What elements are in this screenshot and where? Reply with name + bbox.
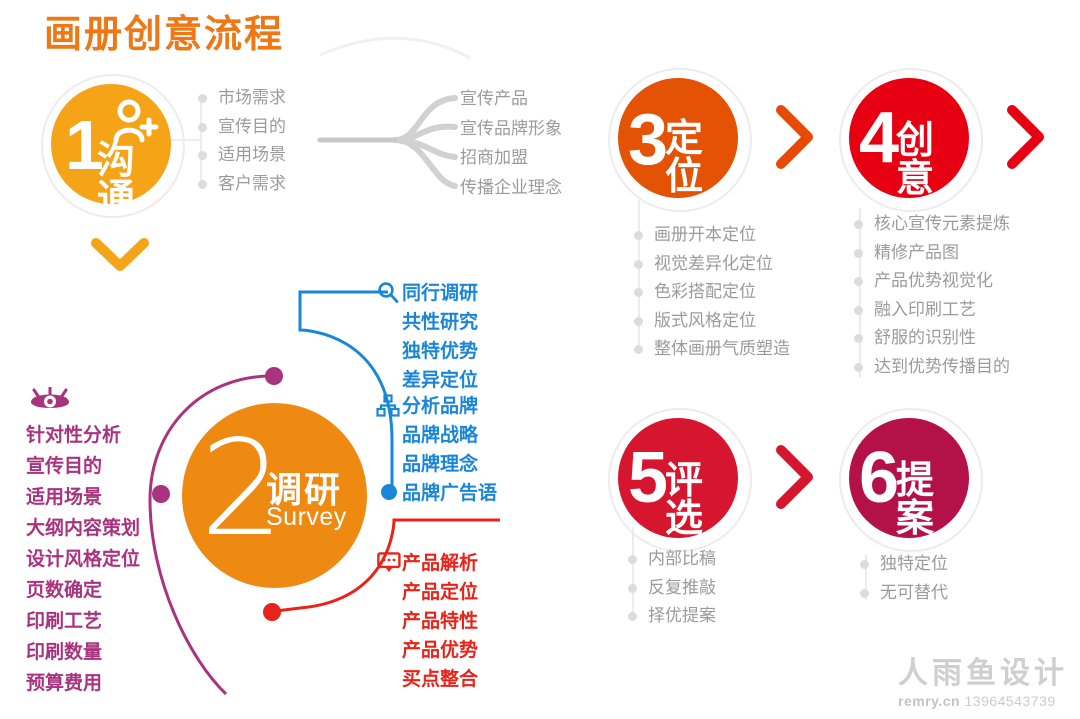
list-item: 印刷数量 — [26, 637, 140, 668]
list-item: 舒服的识别性 — [852, 324, 1010, 353]
list-item: 宣传产品 — [460, 84, 562, 114]
list-item: 分析品牌 — [402, 392, 497, 421]
step-2-blue-list-1: 同行调研 共性研究 独特优势 差异定位 — [402, 279, 478, 395]
watermark-contact: remry.cn 13964543739 — [898, 693, 1068, 709]
list-item: 共性研究 — [402, 308, 478, 337]
step-3-label: 定位 — [665, 120, 738, 196]
comment-icon — [377, 552, 401, 574]
list-item: 产品解析 — [402, 549, 478, 578]
step-5-circle[interactable]: 5 评选 — [618, 418, 738, 538]
step-1-circle[interactable]: 1 沟通 — [51, 84, 171, 204]
list-item: 差异定位 — [402, 366, 478, 395]
step-2-circle[interactable]: 2 调研 Survey — [182, 403, 367, 588]
list-item: 大纲内容策划 — [26, 513, 140, 544]
list-item: 色彩搭配定位 — [632, 278, 790, 307]
list-item: 针对性分析 — [26, 420, 140, 451]
step-2-label-en: Survey — [266, 503, 347, 532]
list-item: 独特优势 — [402, 337, 478, 366]
list-item: 设计风格定位 — [26, 544, 140, 575]
list-item: 品牌广告语 — [402, 479, 497, 508]
list-item: 品牌战略 — [402, 421, 497, 450]
list-item: 版式风格定位 — [632, 307, 790, 336]
list-item: 页数确定 — [26, 575, 140, 606]
list-item: 品牌理念 — [402, 450, 497, 479]
step-4-list: 核心宣传元素提炼 精修产品图 产品优势视觉化 融入印刷工艺 舒服的识别性 达到优… — [852, 210, 1010, 381]
list-item: 整体画册气质塑造 — [632, 335, 790, 364]
step-3-number: 3 — [628, 104, 666, 176]
infographic-canvas: 1 沟通 市场需求 宣传目的 适用场景 客户需求 宣传产品 宣传品牌形象 招商加… — [0, 0, 1080, 719]
page-title: 画册创意流程 — [44, 12, 284, 58]
list-item: 达到优势传播目的 — [852, 353, 1010, 382]
step-2-blue-list-2: 分析品牌 品牌战略 品牌理念 品牌广告语 — [402, 392, 497, 508]
step-5-list: 内部比稿 反复推敲 择优提案 — [626, 545, 716, 631]
list-item: 无可替代 — [858, 579, 948, 608]
step-6-number: 6 — [859, 442, 897, 514]
list-item: 视觉差异化定位 — [632, 250, 790, 279]
step-6-circle[interactable]: 6 提案 — [849, 418, 969, 538]
step-4-circle[interactable]: 4 创意 — [849, 78, 969, 198]
list-item: 适用场景 — [26, 482, 140, 513]
watermark-domain: remry.cn — [898, 693, 960, 709]
step-1-output-list: 宣传产品 宣传品牌形象 招商加盟 传播企业理念 — [460, 84, 562, 202]
step-6-label: 提案 — [896, 462, 969, 538]
watermark: 人雨鱼设计 remry.cn 13964543739 — [898, 657, 1068, 709]
person-add-icon — [111, 98, 159, 146]
list-item: 买点整合 — [402, 665, 478, 694]
list-item: 融入印刷工艺 — [852, 296, 1010, 325]
step-3-list: 画册开本定位 视觉差异化定位 色彩搭配定位 版式风格定位 整体画册气质塑造 — [632, 221, 790, 364]
list-item: 预算费用 — [26, 668, 140, 699]
list-item: 市场需求 — [196, 84, 286, 113]
list-item: 反复推敲 — [626, 574, 716, 603]
watermark-phone: 13964543739 — [965, 693, 1056, 709]
eye-icon — [28, 387, 72, 413]
step-4-label: 创意 — [896, 122, 969, 198]
list-item: 印刷工艺 — [26, 606, 140, 637]
list-item: 核心宣传元素提炼 — [852, 210, 1010, 239]
step-4-number: 4 — [859, 102, 897, 174]
list-item: 产品定位 — [402, 578, 478, 607]
list-item: 内部比稿 — [626, 545, 716, 574]
list-item: 招商加盟 — [460, 143, 562, 173]
list-item: 同行调研 — [402, 279, 478, 308]
watermark-logo: 人雨鱼设计 — [898, 657, 1068, 691]
sitemap-icon — [376, 394, 400, 418]
list-item: 客户需求 — [196, 170, 286, 199]
step-2-red-list: 产品解析 产品定位 产品特性 产品优势 买点整合 — [402, 549, 478, 694]
list-item: 择优提案 — [626, 602, 716, 631]
list-item: 产品优势 — [402, 636, 478, 665]
step-2-purple-list: 针对性分析 宣传目的 适用场景 大纲内容策划 设计风格定位 页数确定 印刷工艺 … — [26, 420, 140, 699]
list-item: 画册开本定位 — [632, 221, 790, 250]
step-5-label: 评选 — [665, 462, 738, 538]
step-1-label: 沟通 — [97, 142, 171, 218]
list-item: 适用场景 — [196, 141, 286, 170]
list-item: 传播企业理念 — [460, 173, 562, 203]
step-3-circle[interactable]: 3 定位 — [618, 78, 738, 198]
step-5-number: 5 — [628, 442, 666, 514]
search-icon — [376, 281, 400, 305]
list-item: 产品优势视觉化 — [852, 267, 1010, 296]
list-item: 产品特性 — [402, 607, 478, 636]
step-1-input-list: 市场需求 宣传目的 适用场景 客户需求 — [196, 84, 286, 198]
list-item: 宣传品牌形象 — [460, 114, 562, 144]
list-item: 独特定位 — [858, 550, 948, 579]
step-6-list: 独特定位 无可替代 — [858, 550, 948, 607]
list-item: 宣传目的 — [196, 113, 286, 142]
list-item: 宣传目的 — [26, 451, 140, 482]
list-item: 精修产品图 — [852, 239, 1010, 268]
